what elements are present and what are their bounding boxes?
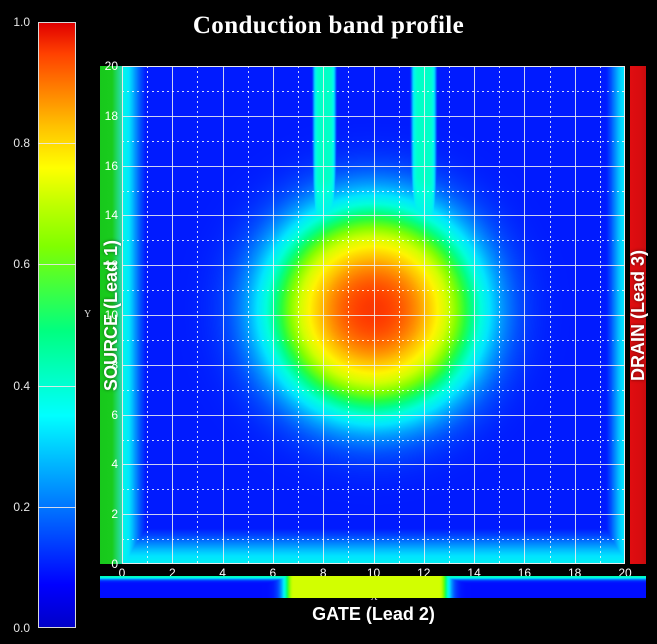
electrode-gate-label: GATE (Lead 2) <box>122 604 625 625</box>
colorbar-tick-label: 0.0 <box>13 621 30 635</box>
colorbar-tick-label: 1.0 <box>13 15 30 29</box>
y-tick-label: 10 <box>96 308 118 322</box>
y-tick-label: 18 <box>96 109 118 123</box>
gate-canvas <box>100 576 646 598</box>
y-tick-label: 2 <box>96 507 118 521</box>
y-tick-label: 4 <box>96 457 118 471</box>
colorbar-tick-label: 0.8 <box>13 136 30 150</box>
y-tick-label: 14 <box>96 208 118 222</box>
y-tick-label: 0 <box>96 557 118 571</box>
colorbar-tick-line <box>38 507 76 508</box>
y-tick-label: 8 <box>96 358 118 372</box>
heatmap-plot-area[interactable] <box>122 66 625 564</box>
colorbar-tick-line <box>38 264 76 265</box>
colorbar-tick-line <box>38 386 76 387</box>
electrode-gate-bar[interactable] <box>100 576 646 598</box>
y-tick-label: 16 <box>96 159 118 173</box>
page-title: Conduction band profile <box>0 12 657 40</box>
colorbar-tick-label: 0.2 <box>13 500 30 514</box>
colorbar-gradient <box>38 22 76 628</box>
colorbar-tick-label: 0.6 <box>13 257 30 271</box>
conduction-band-profile-plot: Conduction band profile 0.00.20.40.60.81… <box>0 0 657 644</box>
y-tick-label: 6 <box>96 408 118 422</box>
y-axis-label: Y <box>84 309 91 320</box>
electrode-drain-bar[interactable] <box>630 66 646 564</box>
colorbar-tick-line <box>38 143 76 144</box>
heatmap-canvas <box>122 66 625 564</box>
y-tick-label: 12 <box>96 258 118 272</box>
colorbar: 0.00.20.40.60.81.0 <box>38 22 76 628</box>
colorbar-tick-label: 0.4 <box>13 379 30 393</box>
y-tick-label: 20 <box>96 59 118 73</box>
